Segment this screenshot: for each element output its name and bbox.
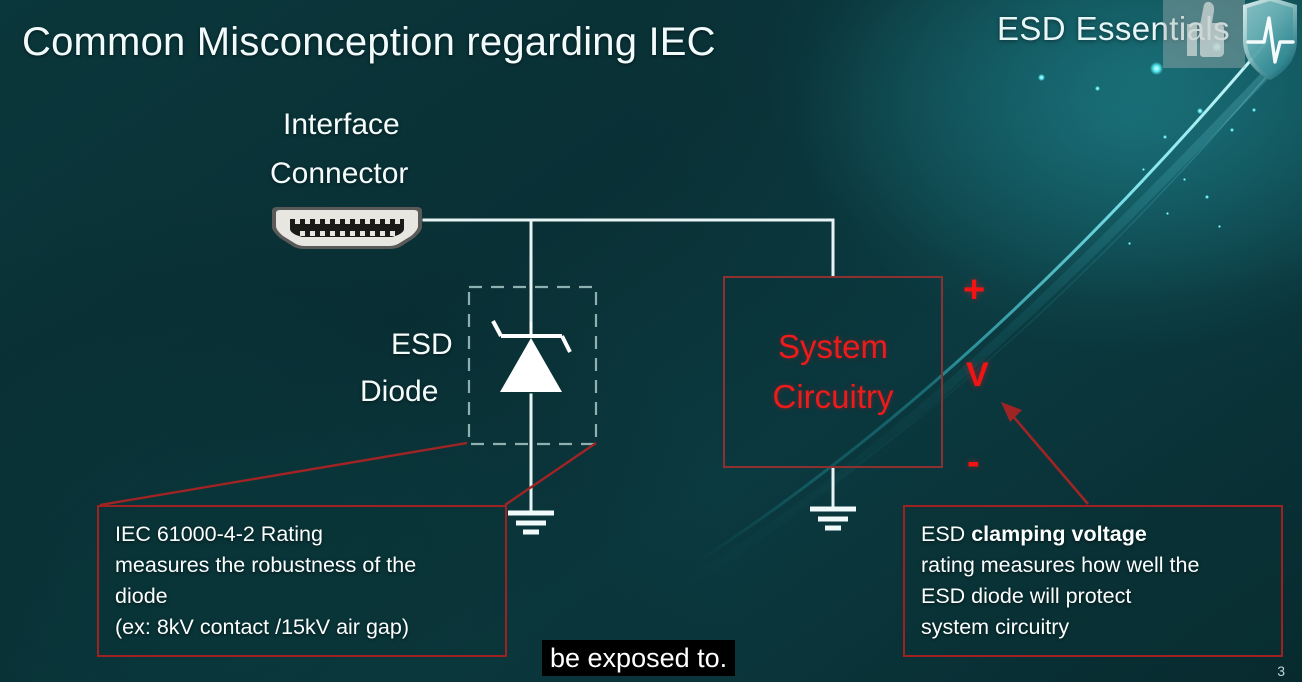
page-number: 3 — [1277, 663, 1285, 679]
slide-canvas: Common Misconception regarding IEC ESD E… — [0, 0, 1302, 682]
callout-left-line4: (ex: 8kV contact /15kV air gap) — [115, 612, 491, 643]
ground-icon — [810, 509, 856, 528]
hdmi-connector-icon — [268, 205, 426, 251]
esd-label: ESD — [391, 328, 453, 362]
callout-right-line1-bold: clamping voltage — [971, 522, 1147, 546]
callout-right-line1: ESD clamping voltage — [921, 519, 1267, 550]
tvs-zener-diode-icon — [493, 321, 570, 392]
callout-left-line2: measures the robustness of the — [115, 550, 491, 581]
polarity-voltage-label: V — [966, 356, 989, 395]
callout-left: IEC 61000-4-2 Rating measures the robust… — [97, 505, 507, 657]
callout-left-line3: diode — [115, 581, 491, 612]
callout-right-line2: rating measures how well the — [921, 550, 1267, 581]
callout-right-line3: ESD diode will protect — [921, 581, 1267, 612]
callout-left-line1: IEC 61000-4-2 Rating — [115, 519, 491, 550]
diode-label: Diode — [360, 375, 438, 409]
polarity-plus-label: + — [963, 269, 985, 312]
connector-label: Connector — [270, 157, 408, 191]
callout-left-leader — [100, 443, 596, 505]
callout-right-line1-prefix: ESD — [921, 522, 971, 546]
system-circuitry-box: System Circuitry — [723, 276, 943, 468]
callout-right: ESD clamping voltage rating measures how… — [903, 505, 1283, 657]
ground-icon — [508, 513, 554, 532]
interface-label: Interface — [283, 108, 400, 142]
callout-right-arrow — [1001, 402, 1088, 504]
system-circuitry-line2: Circuitry — [773, 372, 894, 422]
polarity-minus-label: - — [967, 441, 980, 484]
subtitle-caption: be exposed to. — [542, 640, 735, 676]
callout-right-line4: system circuitry — [921, 612, 1267, 643]
system-circuitry-line1: System — [778, 322, 888, 372]
